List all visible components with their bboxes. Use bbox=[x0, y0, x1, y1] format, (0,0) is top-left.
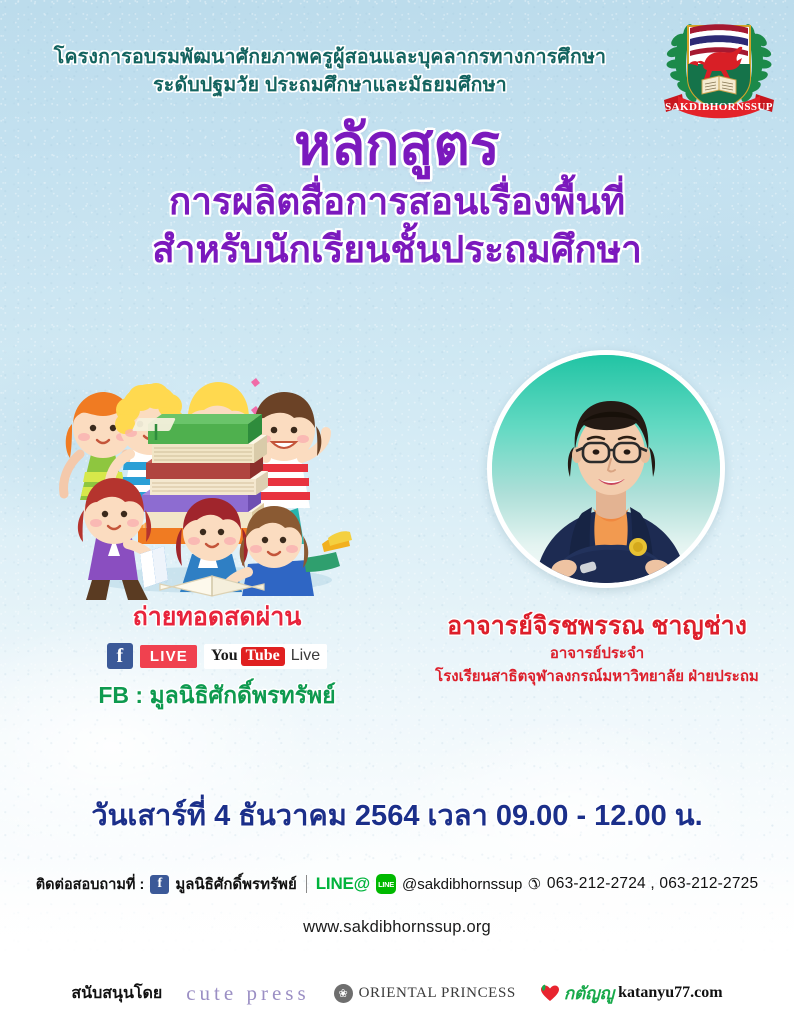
poster-canvas: SAKDIBHORNSSUP โครงการอบรมพัฒนาศักยภาพคร… bbox=[0, 0, 794, 1024]
speaker-portrait-icon bbox=[492, 355, 725, 588]
oriental-princess-label: ORIENTAL PRINCESS bbox=[359, 985, 516, 1002]
broadcast-title: ถ่ายทอดสดผ่าน bbox=[52, 600, 382, 634]
speaker-info-block: อาจารย์จิรชพรรณ ชาญช่าง อาจารย์ประจำ โรง… bbox=[404, 610, 790, 688]
sakdibhornssup-logo: SAKDIBHORNSSUP bbox=[654, 6, 784, 126]
sponsor-footer: สนับสนุนโดย cute press ❀ ORIENTAL PRINCE… bbox=[0, 962, 794, 1024]
speaker-photo bbox=[487, 350, 725, 588]
facebook-icon[interactable]: f bbox=[107, 643, 133, 669]
oriental-princess-emblem-icon: ❀ bbox=[334, 984, 353, 1003]
children-books-icon bbox=[52, 332, 372, 600]
speaker-organization: โรงเรียนสาธิตจุฬาลงกรณ์มหาวิทยาลัย ฝ่ายป… bbox=[404, 665, 790, 688]
line-icon[interactable]: LINE bbox=[376, 874, 396, 894]
course-title: หลักสูตร bbox=[0, 112, 794, 178]
line-icon-text: LINE bbox=[378, 880, 394, 889]
youtube-live-text: Live bbox=[291, 648, 320, 664]
katanyu-thai-label: กตัญญู bbox=[564, 980, 614, 1007]
header-line-2: ระดับปฐมวัย ประถมศึกษาและมัธยมศึกษา bbox=[0, 70, 660, 100]
youtube-tube-text: Tube bbox=[241, 647, 285, 666]
header-block: โครงการอบรมพัฒนาศักยภาพครูผู้สอนและบุคลา… bbox=[0, 44, 660, 100]
facebook-icon-small[interactable]: f bbox=[150, 875, 169, 894]
line-at-label: LINE@ bbox=[316, 874, 370, 894]
contact-row: ติดต่อสอบถามที่ : f มูลนิธิศักดิ์พรทรัพย… bbox=[0, 872, 794, 896]
sponsor-oriental-princess: ❀ ORIENTAL PRINCESS bbox=[334, 984, 516, 1003]
website-url[interactable]: www.sakdibhornssup.org bbox=[0, 918, 794, 937]
phone-icon: ✆ bbox=[528, 875, 541, 893]
katanyu-domain: katanyu77.com bbox=[618, 984, 722, 1002]
supported-by-label: สนับสนุนโดย bbox=[71, 981, 162, 1006]
line-id: @sakdibhornssup bbox=[402, 876, 522, 893]
header-line-1: โครงการอบรมพัฒนาศักยภาพครูผู้สอนและบุคลา… bbox=[0, 44, 660, 70]
facebook-page-name: FB : มูลนิธิศักดิ์พรทรัพย์ bbox=[52, 680, 382, 710]
speaker-role: อาจารย์ประจำ bbox=[404, 642, 790, 665]
katanyu-heart-leaf-icon bbox=[540, 984, 560, 1002]
course-subtitle-line-2: สำหรับนักเรียนชั้นประถมศึกษา bbox=[0, 226, 794, 274]
contact-facebook-name: มูลนิธิศักดิ์พรทรัพย์ bbox=[175, 872, 296, 896]
sponsor-katanyu: กตัญญู katanyu77.com bbox=[540, 980, 723, 1007]
youtube-live-badge[interactable]: You Tube Live bbox=[204, 644, 327, 669]
youtube-you-text: You bbox=[211, 648, 238, 664]
broadcast-badges: f LIVE You Tube Live bbox=[52, 643, 382, 669]
title-block: หลักสูตร การผลิตสื่อการสอนเรื่องพื้นที่ … bbox=[0, 112, 794, 274]
children-reading-illustration bbox=[52, 332, 372, 600]
event-datetime: วันเสาร์ที่ 4 ธันวาคม 2564 เวลา 09.00 - … bbox=[0, 797, 794, 835]
broadcast-block: ถ่ายทอดสดผ่าน f LIVE You Tube Live FB : … bbox=[52, 600, 382, 710]
speaker-name: อาจารย์จิรชพรรณ ชาญช่าง bbox=[404, 610, 790, 642]
sponsor-cute-press: cute press bbox=[186, 981, 309, 1006]
course-subtitle-line-1: การผลิตสื่อการสอนเรื่องพื้นที่ bbox=[0, 178, 794, 226]
facebook-live-badge[interactable]: LIVE bbox=[140, 645, 197, 668]
logo-icon: SAKDIBHORNSSUP bbox=[654, 6, 784, 126]
contact-divider bbox=[306, 875, 307, 893]
contact-label: ติดต่อสอบถามที่ : bbox=[36, 873, 145, 896]
contact-phones: 063-212-2724 , 063-212-2725 bbox=[547, 875, 758, 893]
